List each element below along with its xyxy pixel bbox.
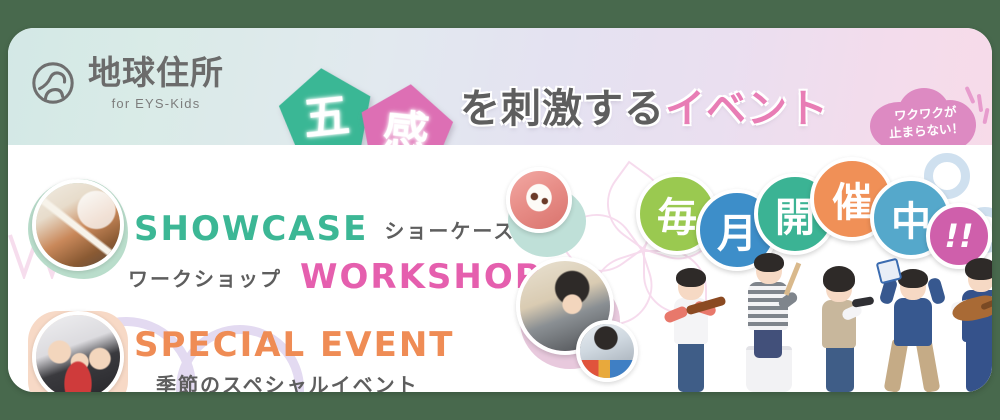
kids-costume-photo (32, 311, 124, 392)
brand-tagline: for EYS-Kids (88, 96, 224, 111)
monthly-badge-label: 開 (775, 185, 815, 243)
monthly-badge-label: 中 (891, 189, 931, 247)
girl-microphone (810, 258, 872, 392)
special-event-thumbnail[interactable] (22, 305, 134, 392)
section-special-event[interactable]: SPECIAL EVENT 季節のスペシャルイベント (22, 305, 454, 392)
showcase-jp-label: ショーケース (384, 215, 515, 244)
monthly-badge-label: 毎 (657, 185, 697, 243)
workshop-en-label: WORKSHOP (300, 257, 542, 297)
headline: を刺激するイベント (460, 76, 829, 134)
banner-body: SHOWCASE ショーケース ワークショップ WORKSHOP SPECIAL… (8, 145, 992, 392)
brand-name: 地球住所 (88, 56, 224, 89)
microphone-icon (851, 296, 874, 308)
girl-violin (662, 256, 726, 392)
special-event-jp-label: 季節のスペシャルイベント (156, 369, 454, 393)
toy-car-photo[interactable] (576, 320, 638, 382)
showcase-en-label: SHOWCASE (134, 209, 368, 249)
globe-icon (30, 60, 76, 106)
section-workshop[interactable]: ワークショップ WORKSHOP (128, 257, 542, 297)
boy-drum (736, 252, 802, 392)
brand-logo[interactable]: 地球住所 for EYS-Kids (30, 56, 224, 111)
event-banner: 地球住所 for EYS-Kids 五 感 を刺激するイベント ワクワクが (8, 28, 992, 392)
excitement-badge-text: ワクワクが 止まらない！ (861, 80, 990, 166)
workshop-jp-label: ワークショップ (128, 263, 282, 292)
boy-tambourine (880, 250, 952, 392)
girl-ukulele (950, 246, 992, 392)
excitement-badge: ワクワクが 止まらない！ (864, 84, 988, 162)
headline-prefix: を刺激する (460, 86, 665, 132)
showcase-thumbnail[interactable] (22, 173, 134, 285)
banner-header: 地球住所 for EYS-Kids 五 感 を刺激するイベント ワクワクが (8, 28, 992, 145)
cake-craft-photo[interactable] (506, 167, 572, 233)
children-playing-instruments-photo (658, 240, 992, 392)
special-event-en-label: SPECIAL EVENT (134, 325, 454, 365)
monthly-badge-label: 催 (832, 170, 872, 228)
violin-photo (32, 179, 124, 271)
headline-accent: イベント (665, 86, 829, 132)
pentagon-label: 五 (300, 79, 353, 149)
drumstick-icon (784, 262, 801, 295)
